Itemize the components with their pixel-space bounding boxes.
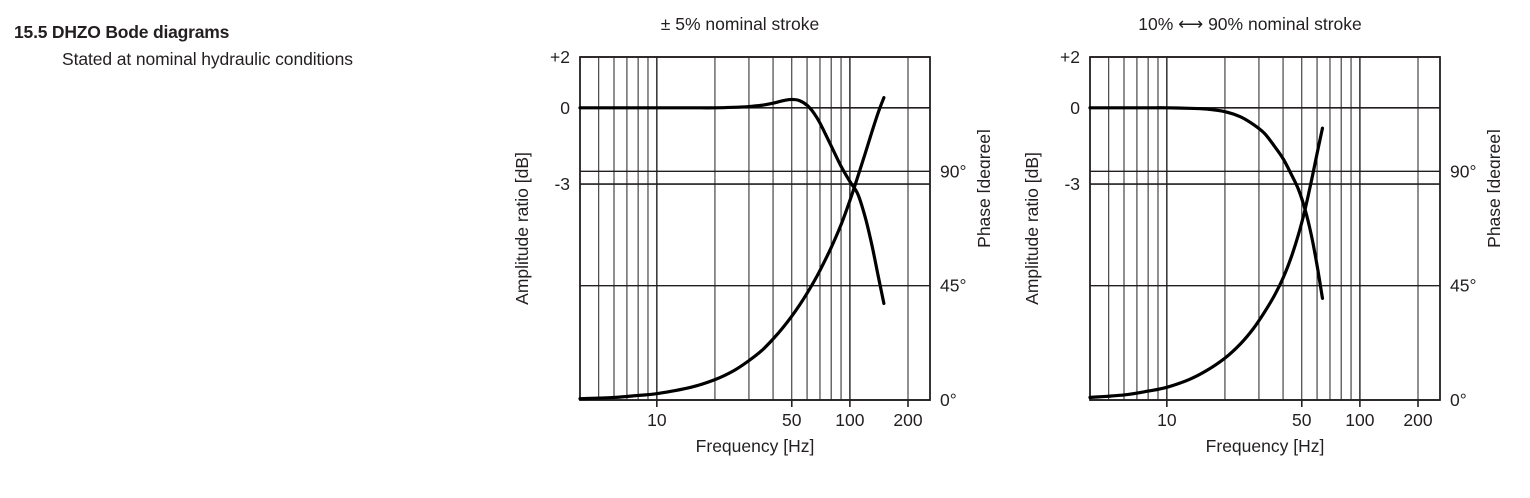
bode-diagram-1: ± 5% nominal stroke 1050100200+20-390°45… bbox=[490, 0, 990, 498]
y-axis-label-left: Amplitude ratio [dB] bbox=[1022, 152, 1042, 305]
x-tick-label: 200 bbox=[1403, 410, 1432, 430]
x-tick-label: 200 bbox=[893, 410, 922, 430]
plot-area: 1050100200+20-390°45°0°Frequency [Hz]Amp… bbox=[490, 0, 990, 498]
x-tick-label: 10 bbox=[647, 410, 667, 430]
y-tick-label-amplitude: 0 bbox=[560, 98, 570, 118]
phase-curve bbox=[580, 98, 884, 399]
x-axis-label: Frequency [Hz] bbox=[696, 436, 815, 456]
x-tick-label: 100 bbox=[1345, 410, 1374, 430]
y-tick-label-amplitude: -3 bbox=[554, 174, 570, 194]
y-axis-label-right: Phase [degree] bbox=[1484, 129, 1500, 248]
bode-diagram-2: 10% ⟷ 90% nominal stroke 1050100200+20-3… bbox=[1000, 0, 1500, 498]
y-tick-label-phase: 0° bbox=[940, 390, 957, 410]
section-subtitle: Stated at nominal hydraulic conditions bbox=[62, 49, 353, 70]
amplitude-curve bbox=[580, 99, 884, 303]
x-tick-label: 10 bbox=[1157, 410, 1177, 430]
y-tick-label-amplitude: 0 bbox=[1070, 98, 1080, 118]
x-axis-label: Frequency [Hz] bbox=[1206, 436, 1325, 456]
y-tick-label-amplitude: -3 bbox=[1064, 174, 1080, 194]
x-tick-label: 50 bbox=[782, 410, 802, 430]
y-tick-label-amplitude: +2 bbox=[1060, 47, 1080, 67]
x-tick-label: 50 bbox=[1292, 410, 1312, 430]
y-tick-label-phase: 45° bbox=[940, 276, 966, 296]
y-tick-label-phase: 45° bbox=[1450, 276, 1476, 296]
y-tick-label-phase: 0° bbox=[1450, 390, 1467, 410]
y-axis-label-right: Phase [degree] bbox=[974, 129, 990, 248]
y-tick-label-amplitude: +2 bbox=[550, 47, 570, 67]
y-tick-label-phase: 90° bbox=[1450, 161, 1476, 181]
y-tick-label-phase: 90° bbox=[940, 161, 966, 181]
section-title: 15.5 DHZO Bode diagrams bbox=[14, 22, 229, 43]
x-tick-label: 100 bbox=[835, 410, 864, 430]
y-axis-label-left: Amplitude ratio [dB] bbox=[512, 152, 532, 305]
plot-area: 1050100200+20-390°45°0°Frequency [Hz]Amp… bbox=[1000, 0, 1500, 498]
